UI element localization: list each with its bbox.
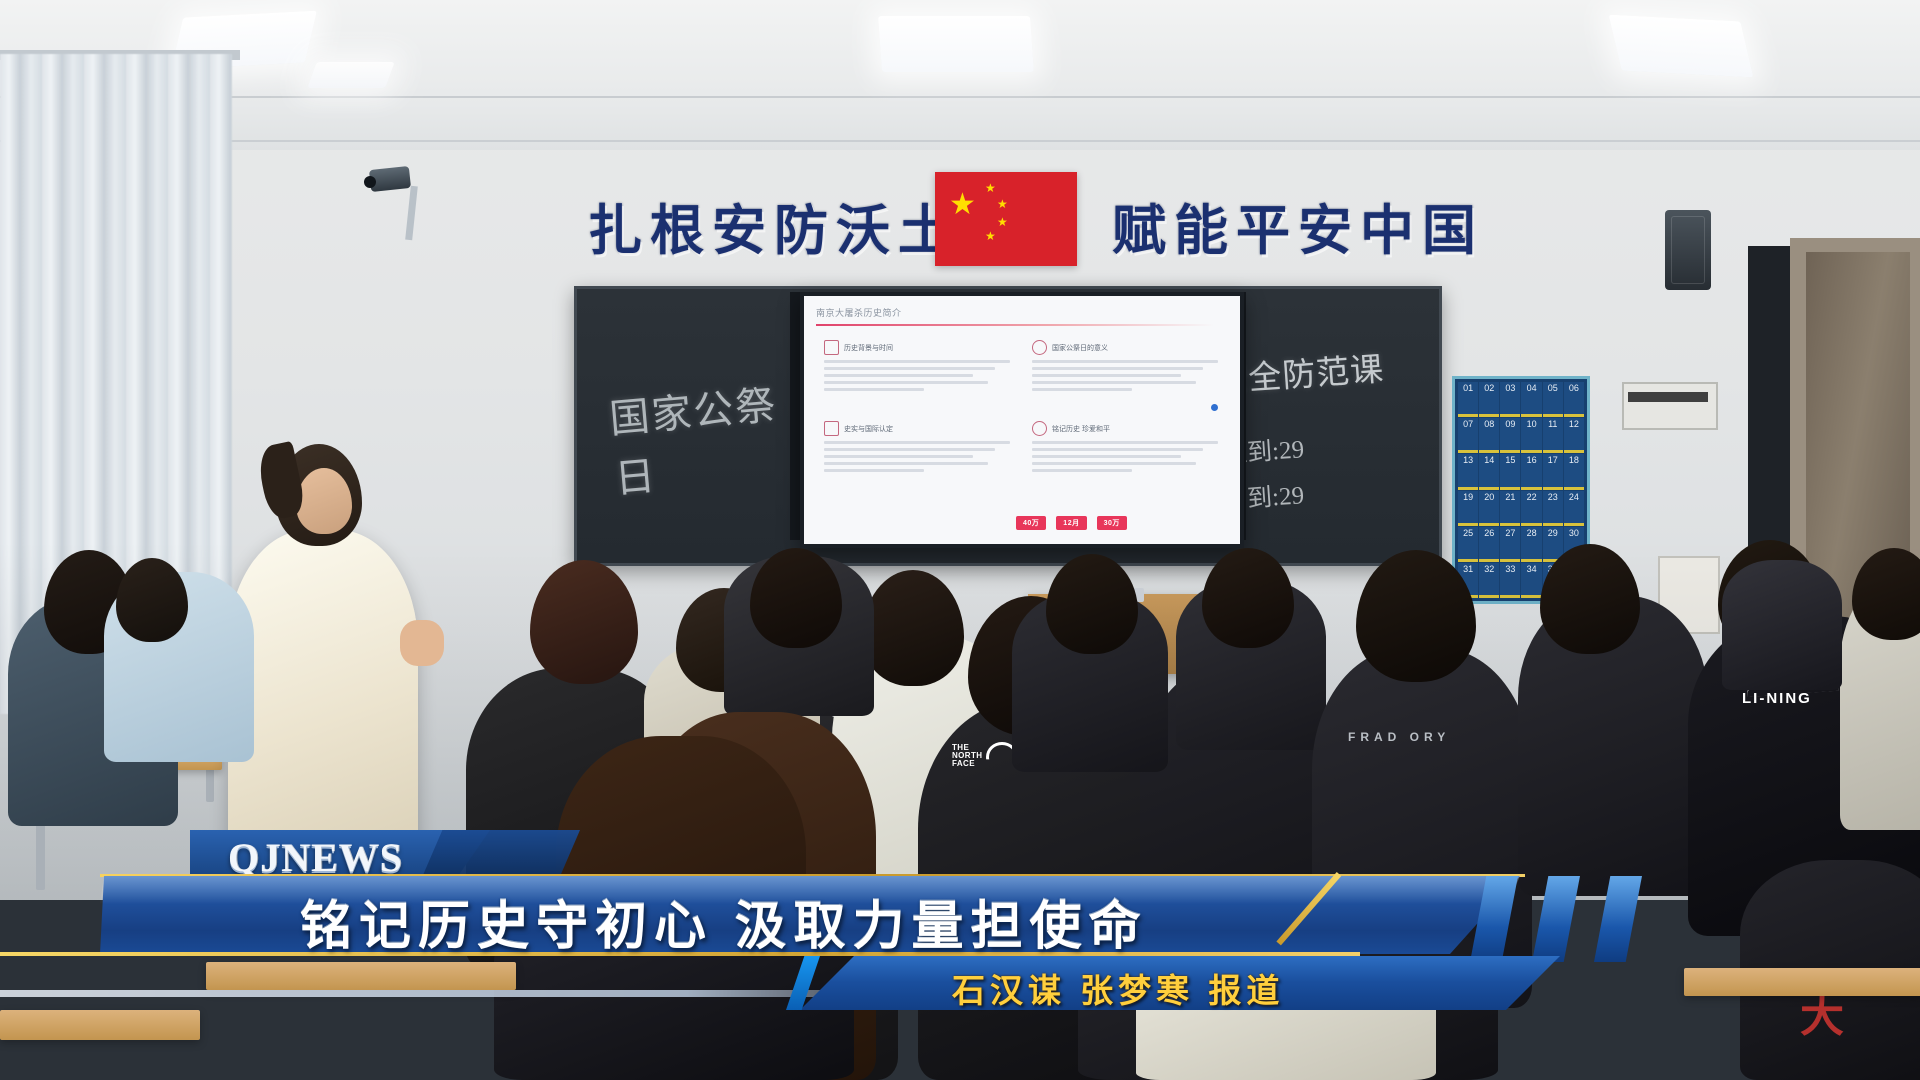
cursor-dot-icon: [1211, 404, 1218, 411]
classroom-scene: 扎根安防沃土 ★ ★ ★ ★ ★ 赋能平安中国 国家公祭日 安全防范课 应到:2…: [0, 0, 1920, 1080]
pocket-cell: 19: [1458, 491, 1478, 526]
pocket-cell: 11: [1543, 418, 1563, 453]
pocket-cell: 08: [1479, 418, 1499, 453]
flag-star-small-icon: ★: [997, 198, 1008, 210]
book-icon: [824, 421, 839, 436]
blackboard-left-chalk-text: 国家公祭日: [607, 374, 797, 509]
pocket-cell: 02: [1479, 382, 1499, 417]
camera-lens-icon: [364, 176, 376, 188]
slide-section-label: 国家公祭日的意义: [1052, 343, 1108, 353]
ceiling-light: [878, 16, 1034, 72]
slide-section: 铭记历史 珍爱和平: [1032, 421, 1218, 472]
flag-star-small-icon: ★: [985, 182, 996, 194]
pocket-cell: 06: [1564, 382, 1584, 417]
pocket-cell: 07: [1458, 418, 1478, 453]
student-desk: [0, 1010, 200, 1040]
pocket-cell: 09: [1500, 418, 1520, 453]
electrical-panel: [1622, 382, 1718, 430]
electrical-panel-strip: [1628, 392, 1708, 402]
slide-body-lines: [1032, 441, 1218, 472]
screen-bezel-left: [790, 292, 800, 540]
slide-section-heading: 史实与国际认定: [824, 421, 1010, 436]
slide-section-label: 史实与国际认定: [844, 424, 893, 434]
slide-section-heading: 历史背景与时间: [824, 340, 1010, 355]
flag-star-small-icon: ★: [985, 230, 996, 242]
student-desk: [862, 948, 1112, 974]
pocket-cell: 04: [1521, 382, 1541, 417]
student-desk: [206, 962, 516, 990]
slide-title: 南京大屠杀历史简介: [816, 306, 902, 319]
li-ning-logo-text: LI-NING: [1742, 690, 1812, 707]
pocket-cell: 15: [1500, 454, 1520, 489]
student-body-foreground: [1136, 960, 1436, 1080]
wall-slogan-right: 赋能平安中国: [1112, 186, 1484, 265]
ceiling-seam: [0, 96, 1920, 98]
teacher-hand: [400, 620, 444, 666]
stat-badge: 40万: [1016, 516, 1046, 530]
flag-star-large-icon: ★: [949, 190, 976, 220]
pocket-cell: 23: [1543, 491, 1563, 526]
pocket-cell: 20: [1479, 491, 1499, 526]
stat-badge: 30万: [1097, 516, 1127, 530]
slide-section-heading: 国家公祭日的意义: [1032, 340, 1218, 355]
jacket-back-text: FRAD ORY: [1348, 730, 1450, 744]
student-desk: [1684, 968, 1920, 996]
pocket-cell: 22: [1521, 491, 1541, 526]
broadcast-frame: 扎根安防沃土 ★ ★ ★ ★ ★ 赋能平安中国 国家公祭日 安全防范课 应到:2…: [0, 0, 1920, 1080]
slide-stat-badges: 40万 12月 30万: [1016, 516, 1127, 530]
ceiling-seam: [0, 140, 1920, 142]
slide-column-left: 历史背景与时间 史实与国际认定: [824, 340, 1010, 502]
pocket-cell: 03: [1500, 382, 1520, 417]
pocket-cell: 12: [1564, 418, 1584, 453]
teacher-coat: [228, 530, 418, 870]
north-face-logo-icon: THE NORTH FACE: [952, 744, 982, 768]
pocket-cell: 14: [1479, 454, 1499, 489]
pocket-cell: 17: [1543, 454, 1563, 489]
pocket-cell: 05: [1543, 382, 1563, 417]
pocket-cell: 10: [1521, 418, 1541, 453]
slide-section: 国家公祭日的意义: [1032, 340, 1218, 391]
slide-section-label: 铭记历史 珍爱和平: [1052, 424, 1110, 434]
ceiling-light: [307, 62, 394, 88]
student-body-foreground: [494, 900, 854, 1080]
pocket-cell: 18: [1564, 454, 1584, 489]
ceiling-light: [1609, 15, 1754, 78]
pocket-cell: 16: [1521, 454, 1541, 489]
slide-body-lines: [824, 360, 1010, 391]
slide-title-rule: [816, 324, 1214, 326]
slide-section-heading: 铭记历史 珍爱和平: [1032, 421, 1218, 436]
handshake-icon: [1032, 421, 1047, 436]
pocket-cell: 21: [1500, 491, 1520, 526]
wall-speaker: [1665, 210, 1711, 290]
wall-slogan-left: 扎根安防沃土: [588, 186, 960, 265]
pocket-cell: 24: [1564, 491, 1584, 526]
badge-icon: [1032, 340, 1047, 355]
slide-section: 历史背景与时间: [824, 340, 1010, 391]
pocket-cell: 01: [1458, 382, 1478, 417]
pocket-cell: 13: [1458, 454, 1478, 489]
slide-section-label: 历史背景与时间: [844, 343, 893, 353]
slide-body-lines: [1032, 360, 1218, 391]
slide-section: 史实与国际认定: [824, 421, 1010, 472]
stat-badge: 12月: [1056, 516, 1086, 530]
document-icon: [824, 340, 839, 355]
china-flag: ★ ★ ★ ★ ★: [935, 172, 1077, 266]
presentation-screen[interactable]: 南京大屠杀历史简介 历史背景与时间 史实与国际认定: [800, 292, 1244, 548]
flag-star-small-icon: ★: [997, 216, 1008, 228]
slide-body-lines: [824, 441, 1010, 472]
slide-column-right: 国家公祭日的意义 铭记历史 珍爱和平: [1032, 340, 1218, 502]
north-face-line3: FACE: [952, 759, 975, 768]
student-desk: [1100, 942, 1340, 968]
student-body: [1722, 560, 1842, 690]
